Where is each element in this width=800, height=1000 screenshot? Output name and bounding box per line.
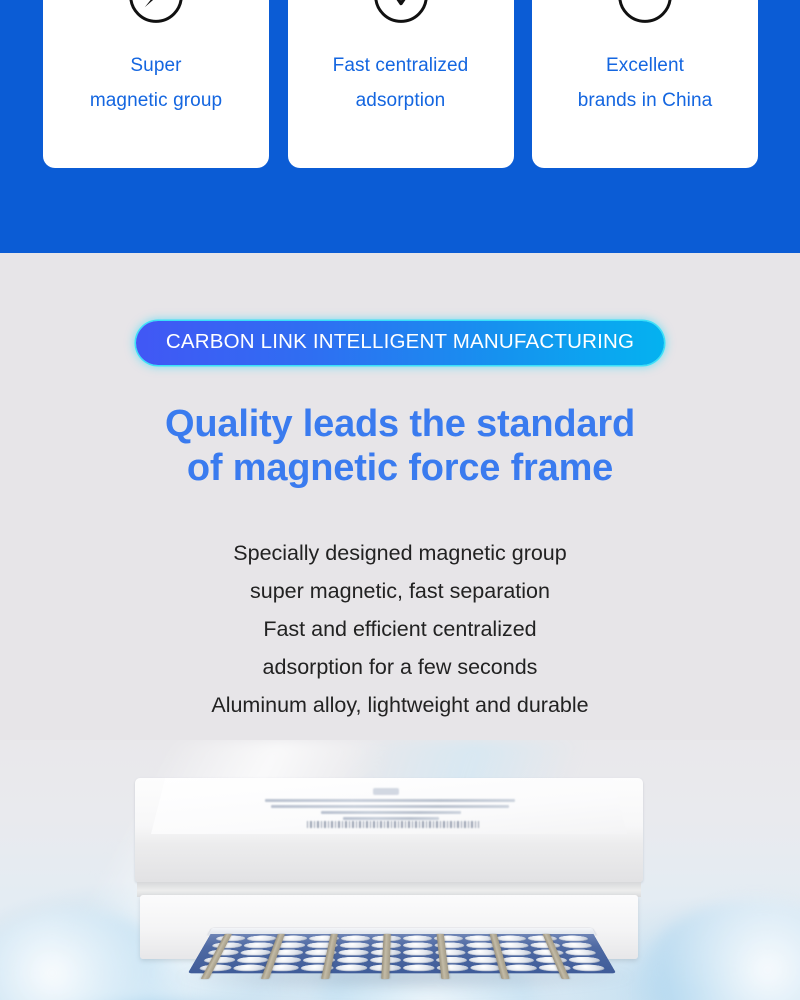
chevron-down-circle-icon (371, 0, 431, 26)
description-line: adsorption for a few seconds (0, 648, 800, 686)
feature-card-fast-centralized-adsorption[interactable]: Fast centralized adsorption (288, 0, 514, 168)
plate-body (188, 934, 616, 973)
magnet-bar (490, 934, 510, 979)
description-line: Aluminum alloy, lightweight and durable (0, 686, 800, 724)
feature-card-super-magnetic-group[interactable]: Super magnetic group (43, 0, 269, 168)
tagline-pill: CARBON LINK INTELLIGENT MANUFACTURING (136, 321, 664, 365)
description-line: Fast and efficient centralized (0, 610, 800, 648)
magnet-bar (201, 934, 232, 979)
tagline-pill-wrap: CARBON LINK INTELLIGENT MANUFACTURING (0, 321, 800, 365)
well-plate (186, 928, 619, 973)
magnet-bar (321, 934, 338, 979)
magnet-bar (437, 934, 450, 979)
promo-page: Super magnetic group Fast centralized ad… (0, 0, 800, 1000)
feature-band: Super magnetic group Fast centralized ad… (0, 0, 800, 253)
product-photo (0, 740, 800, 1000)
label-text-line (321, 811, 461, 814)
magnet-bar (381, 934, 391, 979)
label-text-line (265, 799, 515, 802)
rack-lid (135, 778, 643, 882)
label-barcode (307, 821, 479, 828)
feature-card-list: Super magnetic group Fast centralized ad… (43, 0, 758, 168)
magnet-bar (261, 934, 285, 979)
label-logo (373, 788, 399, 795)
description-line: Specially designed magnetic group (0, 534, 800, 572)
product-label (265, 788, 515, 828)
feature-card-excellent-brands-in-china[interactable]: Excellent brands in China (532, 0, 758, 168)
magnet-bar-group (194, 934, 615, 979)
feature-card-label: Super magnetic group (78, 48, 234, 118)
page-title: Quality leads the standard of magnetic f… (0, 402, 800, 490)
description-text: Specially designed magnetic group super … (0, 534, 800, 724)
label-text-line (343, 817, 439, 820)
feature-card-label: Fast centralized adsorption (321, 48, 481, 118)
feature-card-label: Excellent brands in China (566, 48, 725, 118)
compass-needle-icon (126, 0, 186, 26)
description-line: super magnetic, fast separation (0, 572, 800, 610)
magnet-bar (543, 934, 570, 979)
award-trophy-circle-icon (615, 0, 675, 26)
label-text-line (271, 805, 509, 808)
